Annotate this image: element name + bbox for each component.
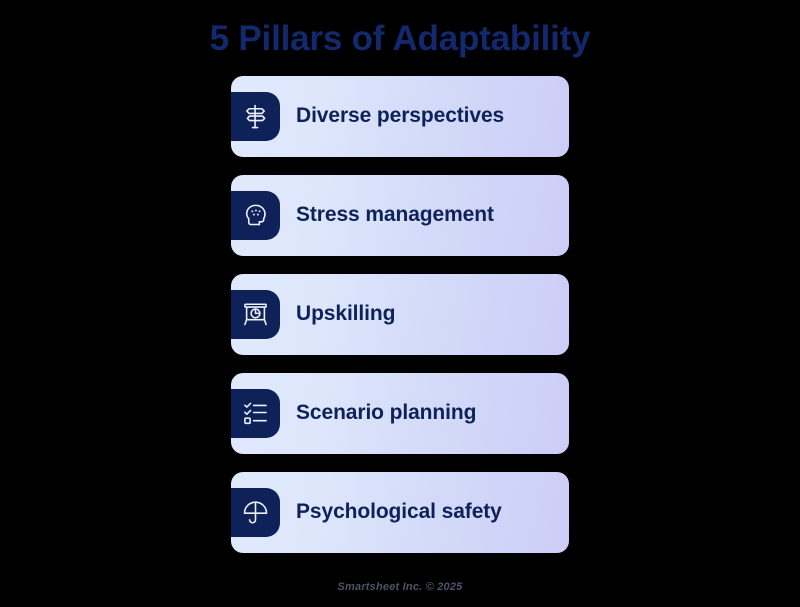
pillar-card-stress-management[interactable]: Stress management bbox=[231, 175, 569, 256]
pillar-label: Upskilling bbox=[296, 302, 395, 326]
pillar-label: Diverse perspectives bbox=[296, 104, 504, 128]
signpost-icon bbox=[242, 103, 269, 130]
footer-copyright: Smartsheet Inc. © 2025 bbox=[0, 581, 800, 593]
icon-container bbox=[231, 191, 280, 240]
pillar-label: Stress management bbox=[296, 203, 494, 227]
umbrella-icon bbox=[242, 499, 269, 526]
checklist-icon bbox=[242, 400, 269, 427]
pillar-card-diverse-perspectives[interactable]: Diverse perspectives bbox=[231, 76, 569, 157]
icon-container bbox=[231, 290, 280, 339]
pillar-card-psychological-safety[interactable]: Psychological safety bbox=[231, 472, 569, 553]
pillar-label: Psychological safety bbox=[296, 500, 502, 524]
pillar-card-list: Diverse perspectives Stress manag bbox=[231, 76, 569, 553]
pillar-card-upskilling[interactable]: Upskilling bbox=[231, 274, 569, 355]
slide-canvas: 5 Pillars of Adaptability Diverse perspe… bbox=[0, 0, 800, 607]
pillar-card-scenario-planning[interactable]: Scenario planning bbox=[231, 373, 569, 454]
icon-container bbox=[231, 92, 280, 141]
pillar-label: Scenario planning bbox=[296, 401, 476, 425]
presentation-chart-icon bbox=[242, 301, 269, 328]
head-mind-icon bbox=[242, 202, 269, 229]
icon-container bbox=[231, 389, 280, 438]
page-title: 5 Pillars of Adaptability bbox=[210, 18, 591, 60]
icon-container bbox=[231, 488, 280, 537]
